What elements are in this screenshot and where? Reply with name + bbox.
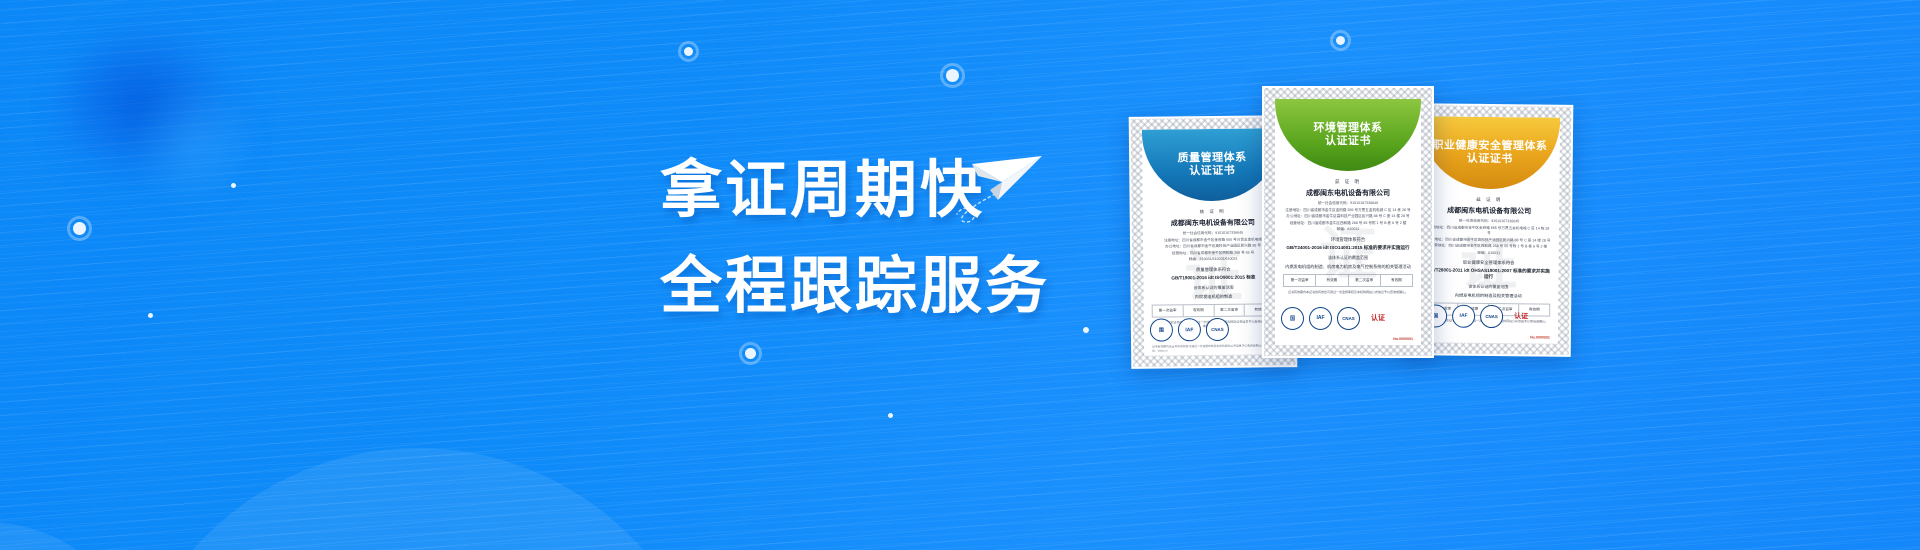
certificate-title-line1: 质量管理体系	[1178, 151, 1247, 165]
certificate-title-line2: 认证证书	[1325, 135, 1371, 148]
cnas-logo-icon: CNAS	[1337, 307, 1360, 330]
certificate-label: 兹 证 明	[1151, 208, 1275, 215]
iaf-logo-icon: IAF	[1178, 318, 1201, 341]
red-seal-icon: 认证	[1365, 305, 1391, 331]
certificate-logos: 国 IAF CNAS	[1150, 317, 1278, 341]
national-emblem-icon: 国	[1281, 307, 1304, 330]
light-blue-blob-decoration	[130, 85, 260, 205]
promo-banner: 拿证周期快 全程跟踪服务 职业健康安全管理体系 认证证书 证 兹 证 明 成都	[0, 0, 1920, 550]
certificate-header: 职业健康安全管理体系 认证证书	[1419, 116, 1560, 189]
certificate-credit-code: 统一社会信用代码：91510167336645	[1283, 201, 1413, 207]
certificate-label: 兹 证 明	[1283, 179, 1413, 185]
national-emblem-icon: 国	[1150, 318, 1173, 341]
certificate-logos: 国 IAF CNAS 认证	[1281, 305, 1415, 331]
iaf-logo-icon: IAF	[1309, 307, 1332, 330]
certificate-inner: 环境管理体系 认证证书 证 兹 证 明 成都闽东电机设备有限公司 统一社会信用代…	[1275, 99, 1421, 345]
certificate-title-line2: 认证证书	[1189, 165, 1235, 179]
particle-dot	[888, 413, 893, 418]
certificate-group: 职业健康安全管理体系 认证证书 证 兹 证 明 成都闽东电机设备有限公司 统一社…	[1100, 78, 1570, 378]
audit-cell: 有效期	[1381, 275, 1412, 286]
paper-plane-icon	[968, 150, 1044, 212]
particle-dot	[946, 69, 959, 82]
certificate-title-line1: 职业健康安全管理体系	[1432, 139, 1547, 154]
certificate-watermark: 证	[1319, 207, 1377, 291]
certificate-title-line2: 认证证书	[1467, 153, 1513, 167]
particle-dot	[73, 222, 86, 235]
certificate-company: 成都闽东电机设备有限公司	[1283, 188, 1413, 198]
certificate-environment[interactable]: 环境管理体系 认证证书 证 兹 证 明 成都闽东电机设备有限公司 统一社会信用代…	[1262, 86, 1434, 358]
certificate-title-line1: 环境管理体系	[1314, 122, 1383, 135]
particle-dot	[148, 313, 153, 318]
particle-dot	[684, 47, 693, 56]
certificate-company: 成都闽东电机设备有限公司	[1427, 205, 1551, 216]
certificate-bottom-note: 证书有效期内本证书的有效性可通过一次监督审核及本机构网站公布信息予以查询或确认。…	[1152, 343, 1276, 352]
certificate-company: 成都闽东电机设备有限公司	[1151, 217, 1275, 228]
certificate-logos: 国 IAF CNAS 认证	[1424, 302, 1552, 329]
iaf-logo-icon: IAF	[1452, 304, 1475, 327]
certificate-watermark: 证	[1459, 216, 1518, 301]
certificate-serial: No.0000001	[1393, 337, 1413, 341]
certificate-watermark: 证	[1184, 228, 1243, 313]
particle-dot	[1336, 36, 1345, 45]
certificate-header: 环境管理体系 认证证书	[1275, 99, 1421, 171]
certificate-label: 兹 证 明	[1427, 196, 1551, 203]
cnas-logo-icon: CNAS	[1206, 318, 1229, 341]
particle-dot	[1083, 327, 1089, 333]
cnas-logo-icon: CNAS	[1480, 304, 1503, 327]
certificate-serial: No.0000001	[1530, 335, 1550, 339]
red-seal-icon: 认证	[1508, 303, 1534, 329]
audit-cell: 第一次监审	[1153, 305, 1184, 316]
certificate-inner: 职业健康安全管理体系 认证证书 证 兹 证 明 成都闽东电机设备有限公司 统一社…	[1418, 116, 1560, 343]
particle-dot	[231, 183, 236, 188]
particle-dot	[745, 348, 756, 359]
headline-line-2: 全程跟踪服务	[660, 239, 1050, 335]
circle-decoration-large	[118, 448, 718, 550]
audit-cell: 第一次监审	[1284, 275, 1316, 286]
circle-decoration-small	[0, 522, 150, 550]
